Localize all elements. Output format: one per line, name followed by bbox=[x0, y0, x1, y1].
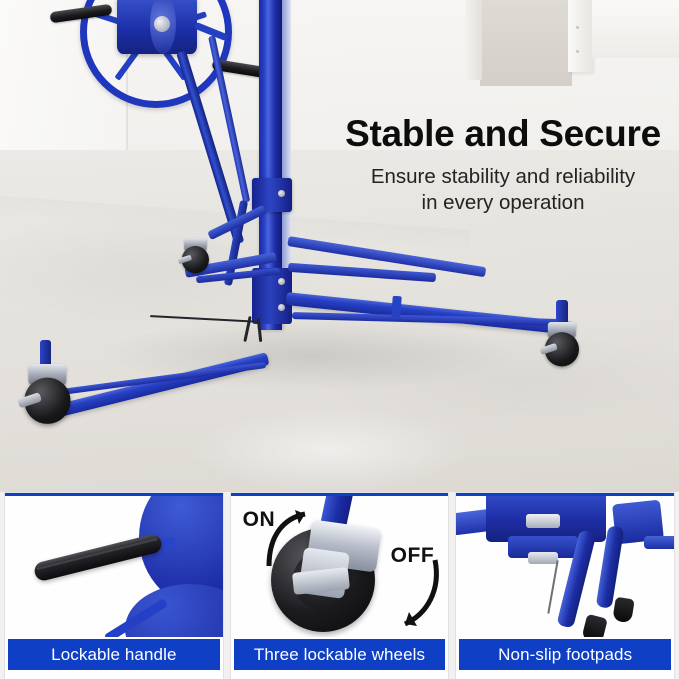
feature-caption: Lockable handle bbox=[8, 639, 220, 670]
feature-image-footpads bbox=[456, 496, 674, 637]
curved-arrow-down-icon bbox=[383, 556, 449, 634]
feature-caption: Non-slip footpads bbox=[459, 639, 671, 670]
background-pillar-left bbox=[466, 0, 482, 80]
background-pillar-right bbox=[568, 0, 592, 72]
hero-text-block: Stable and Secure Ensure stability and r… bbox=[338, 114, 668, 216]
release-wire bbox=[548, 560, 559, 614]
feature-image-lockable-wheels: ON OFF bbox=[231, 496, 449, 637]
product-feature-graphic: Stable and Secure Ensure stability and r… bbox=[0, 0, 679, 679]
feature-panel-row: Lockable handle ON OFF bbox=[0, 493, 679, 679]
frame-rail bbox=[644, 536, 674, 549]
footpad-icon bbox=[613, 597, 636, 624]
feature-panel-footpads: Non-slip footpads bbox=[456, 493, 674, 679]
feature-image-lockable-handle bbox=[5, 496, 223, 637]
footpad-icon bbox=[582, 614, 609, 637]
hero-subtitle-line2: in every operation bbox=[338, 190, 668, 216]
background-wall-right bbox=[592, 0, 679, 58]
clamp-hardware-lower bbox=[528, 552, 558, 564]
hero-product-photo: Stable and Secure Ensure stability and r… bbox=[0, 0, 679, 492]
background-doorway bbox=[480, 0, 572, 86]
page-title: Stable and Secure bbox=[338, 114, 668, 154]
feature-panel-lockable-handle: Lockable handle bbox=[5, 493, 223, 679]
hero-subtitle-line1: Ensure stability and reliability bbox=[338, 164, 668, 190]
feature-caption: Three lockable wheels bbox=[234, 639, 446, 670]
hero-subtitle: Ensure stability and reliability in ever… bbox=[338, 164, 668, 216]
clamp-hardware bbox=[526, 514, 560, 528]
curved-arrow-up-icon bbox=[259, 504, 329, 574]
winch-wheel-lower-icon bbox=[125, 584, 223, 637]
feature-panel-lockable-wheels: ON OFF Three lockable wheels bbox=[231, 493, 449, 679]
mast-inner-rail bbox=[282, 0, 291, 300]
leg-tie-right bbox=[391, 296, 402, 319]
